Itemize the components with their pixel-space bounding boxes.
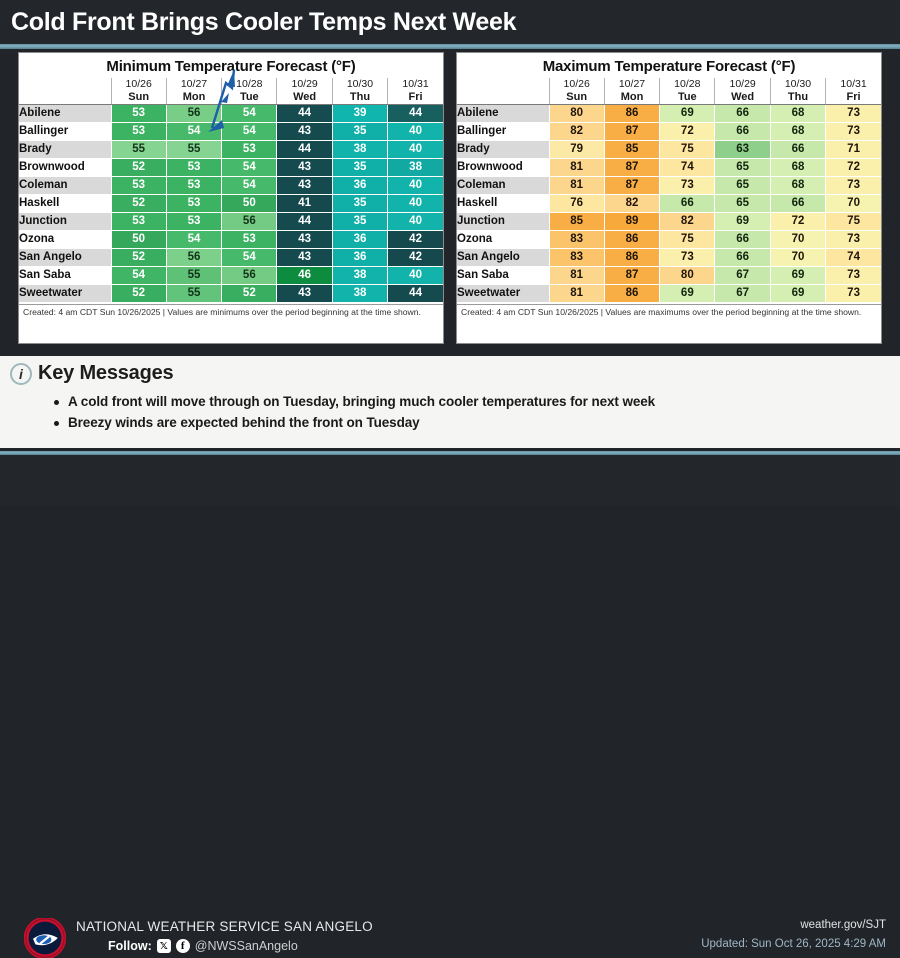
column-header-date: 10/31: [388, 78, 443, 91]
column-header-date: 10/30: [770, 78, 825, 91]
column-header-day: Tue: [660, 91, 715, 105]
nws-logo-icon: [24, 918, 66, 958]
table-row: San Angelo525654433642: [19, 249, 443, 267]
temperature-cell: 73: [826, 105, 881, 123]
temperature-cell: 72: [660, 123, 715, 141]
city-label: Haskell: [457, 195, 549, 213]
temperature-cell: 35: [332, 123, 387, 141]
temperature-cell: 43: [277, 123, 332, 141]
temperature-cell: 73: [660, 249, 715, 267]
city-label: Sweetwater: [19, 285, 111, 303]
column-header-date: 10/29: [715, 78, 770, 91]
temperature-cell: 65: [715, 177, 770, 195]
column-header-day: Fri: [826, 91, 881, 105]
temperature-cell: 87: [604, 267, 659, 285]
temperature-cell: 83: [549, 231, 604, 249]
key-messages-header: i Key Messages: [0, 356, 900, 385]
temperature-cell: 81: [549, 159, 604, 177]
maximum-temperature-panel: Maximum Temperature Forecast (°F) 10/261…: [456, 52, 882, 344]
max-table-head: 10/2610/2710/2810/2910/3010/31SunMonTueW…: [457, 78, 881, 105]
temperature-cell: 40: [388, 177, 443, 195]
temperature-cell: 86: [604, 105, 659, 123]
table-row: San Saba545556463840: [19, 267, 443, 285]
temperature-cell: 87: [604, 159, 659, 177]
follow-label: Follow:: [108, 939, 152, 953]
header-day-row: SunMonTueWedThuFri: [19, 91, 443, 105]
table-row: Junction858982697275: [457, 213, 881, 231]
max-table-body: Abilene808669666873Ballinger828772666873…: [457, 105, 881, 303]
key-messages-list: A cold front will move through on Tuesda…: [0, 391, 900, 433]
table-row: Ozona838675667073: [457, 231, 881, 249]
temperature-cell: 56: [222, 213, 277, 231]
temperature-cell: 46: [277, 267, 332, 285]
footer-organization: NATIONAL WEATHER SERVICE SAN ANGELO: [76, 919, 373, 934]
temperature-cell: 73: [826, 123, 881, 141]
footer-website[interactable]: weather.gov/SJT: [800, 919, 886, 931]
column-header-date: 10/26: [111, 78, 166, 91]
temperature-cell: 54: [222, 123, 277, 141]
temperature-cell: 85: [549, 213, 604, 231]
header-corner-cell-2: [457, 91, 549, 105]
temperature-cell: 87: [604, 177, 659, 195]
temperature-cell: 53: [166, 195, 221, 213]
weather-graphic: Cold Front Brings Cooler Temps Next Week…: [0, 0, 900, 506]
table-row: Brady798575636671: [457, 141, 881, 159]
temperature-cell: 50: [222, 195, 277, 213]
max-table-footnote: Created: 4 am CDT Sun 10/26/2025 | Value…: [457, 304, 881, 317]
city-label: Brady: [457, 141, 549, 159]
temperature-cell: 79: [549, 141, 604, 159]
temperature-cell: 43: [277, 159, 332, 177]
temperature-cell: 42: [388, 231, 443, 249]
temperature-cell: 50: [111, 231, 166, 249]
min-table-head: 10/2610/2710/2810/2910/3010/31SunMonTueW…: [19, 78, 443, 105]
temperature-cell: 73: [826, 177, 881, 195]
temperature-cell: 53: [111, 177, 166, 195]
temperature-cell: 75: [826, 213, 881, 231]
temperature-cell: 75: [660, 231, 715, 249]
temperature-cell: 52: [111, 249, 166, 267]
temperature-cell: 72: [770, 213, 825, 231]
temperature-cell: 80: [549, 105, 604, 123]
temperature-cell: 44: [388, 105, 443, 123]
column-header-day: Thu: [332, 91, 387, 105]
temperature-cell: 40: [388, 195, 443, 213]
temperature-cell: 52: [222, 285, 277, 303]
header-corner-cell-2: [19, 91, 111, 105]
min-table-footnote: Created: 4 am CDT Sun 10/26/2025 | Value…: [19, 304, 443, 317]
temperature-cell: 38: [388, 159, 443, 177]
table-row: Sweetwater525552433844: [19, 285, 443, 303]
header-date-row: 10/2610/2710/2810/2910/3010/31: [457, 78, 881, 91]
column-header-day: Sun: [549, 91, 604, 105]
column-header-day: Fri: [388, 91, 443, 105]
temperature-cell: 82: [660, 213, 715, 231]
temperature-cell: 68: [770, 105, 825, 123]
table-row: Abilene535654443944: [19, 105, 443, 123]
temperature-cell: 53: [111, 123, 166, 141]
table-row: Abilene808669666873: [457, 105, 881, 123]
footer-bar: NATIONAL WEATHER SERVICE SAN ANGELO Foll…: [0, 455, 900, 506]
temperature-cell: 82: [604, 195, 659, 213]
temperature-cell: 65: [715, 195, 770, 213]
temperature-cell: 38: [332, 267, 387, 285]
city-label: Abilene: [457, 105, 549, 123]
temperature-cell: 44: [388, 285, 443, 303]
temperature-cell: 35: [332, 195, 387, 213]
title-bar: Cold Front Brings Cooler Temps Next Week: [0, 0, 900, 44]
temperature-cell: 36: [332, 231, 387, 249]
temperature-cell: 73: [826, 285, 881, 303]
column-header-day: Tue: [222, 91, 277, 105]
temperature-cell: 71: [826, 141, 881, 159]
temperature-cell: 81: [549, 177, 604, 195]
temperature-cell: 40: [388, 213, 443, 231]
temperature-cell: 76: [549, 195, 604, 213]
footer-updated-timestamp: Updated: Sun Oct 26, 2025 4:29 AM: [701, 938, 886, 950]
temperature-cell: 81: [549, 267, 604, 285]
temperature-cell: 74: [660, 159, 715, 177]
table-row: Ballinger828772666873: [457, 123, 881, 141]
column-header-day: Sun: [111, 91, 166, 105]
table-row: Ballinger535454433540: [19, 123, 443, 141]
temperature-cell: 44: [277, 141, 332, 159]
table-row: San Saba818780676973: [457, 267, 881, 285]
temperature-cell: 53: [166, 159, 221, 177]
social-handle[interactable]: @NWSSanAngelo: [195, 939, 298, 953]
column-header-day: Wed: [715, 91, 770, 105]
city-label: Junction: [457, 213, 549, 231]
temperature-cell: 69: [770, 267, 825, 285]
temperature-cell: 54: [166, 123, 221, 141]
temperature-cell: 81: [549, 285, 604, 303]
temperature-cell: 80: [660, 267, 715, 285]
temperature-cell: 68: [770, 159, 825, 177]
city-label: Ballinger: [457, 123, 549, 141]
table-row: Ozona505453433642: [19, 231, 443, 249]
city-label: San Angelo: [457, 249, 549, 267]
temperature-cell: 54: [111, 267, 166, 285]
temperature-cell: 70: [770, 249, 825, 267]
temperature-cell: 66: [660, 195, 715, 213]
temperature-cell: 83: [549, 249, 604, 267]
column-header-day: Thu: [770, 91, 825, 105]
temperature-cell: 52: [111, 285, 166, 303]
facebook-icon[interactable]: f: [176, 939, 190, 953]
table-row: Coleman535354433640: [19, 177, 443, 195]
temperature-cell: 54: [222, 249, 277, 267]
temperature-cell: 53: [222, 231, 277, 249]
info-icon: i: [10, 363, 32, 385]
temperature-cell: 43: [277, 249, 332, 267]
temperature-cell: 70: [826, 195, 881, 213]
min-table-title: Minimum Temperature Forecast (°F): [19, 53, 443, 78]
temperature-cell: 44: [277, 213, 332, 231]
column-header-date: 10/28: [660, 78, 715, 91]
column-header-day: Wed: [277, 91, 332, 105]
forecast-tables: Minimum Temperature Forecast (°F) 10/261…: [0, 52, 900, 348]
temperature-cell: 86: [604, 285, 659, 303]
temperature-cell: 38: [332, 141, 387, 159]
min-table-body: Abilene535654443944Ballinger535454433540…: [19, 105, 443, 303]
temperature-cell: 86: [604, 231, 659, 249]
temperature-cell: 53: [222, 141, 277, 159]
temperature-cell: 73: [826, 231, 881, 249]
max-temperature-table: 10/2610/2710/2810/2910/3010/31SunMonTueW…: [457, 78, 881, 303]
temperature-cell: 68: [770, 123, 825, 141]
temperature-cell: 56: [166, 105, 221, 123]
temperature-cell: 66: [770, 141, 825, 159]
temperature-cell: 54: [166, 231, 221, 249]
header-corner-cell: [457, 78, 549, 91]
temperature-cell: 73: [660, 177, 715, 195]
temperature-cell: 87: [604, 123, 659, 141]
temperature-cell: 39: [332, 105, 387, 123]
temperature-cell: 54: [222, 105, 277, 123]
table-row: Brownwood818774656872: [457, 159, 881, 177]
table-row: Brownwood525354433538: [19, 159, 443, 177]
temperature-cell: 56: [222, 267, 277, 285]
temperature-cell: 82: [549, 123, 604, 141]
temperature-cell: 56: [166, 249, 221, 267]
key-message-item: Breezy winds are expected behind the fro…: [54, 412, 900, 433]
table-row: Haskell768266656670: [457, 195, 881, 213]
temperature-cell: 41: [277, 195, 332, 213]
temperature-cell: 70: [770, 231, 825, 249]
column-header-date: 10/30: [332, 78, 387, 91]
key-messages-title: Key Messages: [38, 362, 173, 385]
table-row: Coleman818773656873: [457, 177, 881, 195]
key-message-item: A cold front will move through on Tuesda…: [54, 391, 900, 412]
temperature-cell: 53: [166, 177, 221, 195]
temperature-cell: 75: [660, 141, 715, 159]
column-header-date: 10/28: [222, 78, 277, 91]
column-header-date: 10/26: [549, 78, 604, 91]
min-temperature-table: 10/2610/2710/2810/2910/3010/31SunMonTueW…: [19, 78, 443, 303]
temperature-cell: 74: [826, 249, 881, 267]
temperature-cell: 42: [388, 249, 443, 267]
temperature-cell: 36: [332, 177, 387, 195]
temperature-cell: 66: [715, 123, 770, 141]
temperature-cell: 53: [111, 213, 166, 231]
city-label: San Saba: [19, 267, 111, 285]
city-label: Junction: [19, 213, 111, 231]
temperature-cell: 66: [770, 195, 825, 213]
city-label: Ozona: [19, 231, 111, 249]
temperature-cell: 69: [660, 285, 715, 303]
table-row: Sweetwater818669676973: [457, 285, 881, 303]
city-label: Haskell: [19, 195, 111, 213]
temperature-cell: 55: [166, 141, 221, 159]
temperature-cell: 66: [715, 231, 770, 249]
temperature-cell: 73: [826, 267, 881, 285]
temperature-cell: 69: [770, 285, 825, 303]
twitter-x-icon[interactable]: 𝕏: [157, 939, 171, 953]
temperature-cell: 43: [277, 177, 332, 195]
column-header-day: Mon: [166, 91, 221, 105]
temperature-cell: 67: [715, 267, 770, 285]
temperature-cell: 35: [332, 159, 387, 177]
city-label: Ozona: [457, 231, 549, 249]
city-label: Coleman: [19, 177, 111, 195]
city-label: Abilene: [19, 105, 111, 123]
header-day-row: SunMonTueWedThuFri: [457, 91, 881, 105]
city-label: Ballinger: [19, 123, 111, 141]
temperature-cell: 35: [332, 213, 387, 231]
column-header-date: 10/27: [604, 78, 659, 91]
city-label: Brownwood: [457, 159, 549, 177]
column-header-date: 10/27: [166, 78, 221, 91]
temperature-cell: 55: [166, 285, 221, 303]
temperature-cell: 63: [715, 141, 770, 159]
temperature-cell: 44: [277, 105, 332, 123]
temperature-cell: 54: [222, 159, 277, 177]
table-row: Brady555553443840: [19, 141, 443, 159]
table-row: San Angelo838673667074: [457, 249, 881, 267]
temperature-cell: 55: [111, 141, 166, 159]
column-header-date: 10/29: [277, 78, 332, 91]
column-header-day: Mon: [604, 91, 659, 105]
footer-follow-group: Follow: 𝕏 f @NWSSanAngelo: [108, 939, 298, 953]
temperature-cell: 36: [332, 249, 387, 267]
page-title: Cold Front Brings Cooler Temps Next Week: [0, 8, 516, 37]
temperature-cell: 40: [388, 267, 443, 285]
temperature-cell: 66: [715, 249, 770, 267]
temperature-cell: 53: [111, 105, 166, 123]
temperature-cell: 52: [111, 195, 166, 213]
temperature-cell: 68: [770, 177, 825, 195]
minimum-temperature-panel: Minimum Temperature Forecast (°F) 10/261…: [18, 52, 444, 344]
temperature-cell: 43: [277, 231, 332, 249]
header-accent-divider: [0, 44, 900, 49]
temperature-cell: 38: [332, 285, 387, 303]
temperature-cell: 40: [388, 123, 443, 141]
temperature-cell: 52: [111, 159, 166, 177]
city-label: Sweetwater: [457, 285, 549, 303]
city-label: Brady: [19, 141, 111, 159]
temperature-cell: 65: [715, 159, 770, 177]
temperature-cell: 69: [715, 213, 770, 231]
temperature-cell: 67: [715, 285, 770, 303]
temperature-cell: 85: [604, 141, 659, 159]
temperature-cell: 53: [166, 213, 221, 231]
temperature-cell: 54: [222, 177, 277, 195]
city-label: Coleman: [457, 177, 549, 195]
table-row: Haskell525350413540: [19, 195, 443, 213]
city-label: San Angelo: [19, 249, 111, 267]
column-header-date: 10/31: [826, 78, 881, 91]
temperature-cell: 72: [826, 159, 881, 177]
header-date-row: 10/2610/2710/2810/2910/3010/31: [19, 78, 443, 91]
temperature-cell: 66: [715, 105, 770, 123]
temperature-cell: 55: [166, 267, 221, 285]
max-table-title: Maximum Temperature Forecast (°F): [457, 53, 881, 78]
temperature-cell: 69: [660, 105, 715, 123]
city-label: San Saba: [457, 267, 549, 285]
temperature-cell: 40: [388, 141, 443, 159]
header-corner-cell: [19, 78, 111, 91]
temperature-cell: 43: [277, 285, 332, 303]
table-row: Junction535356443540: [19, 213, 443, 231]
temperature-cell: 89: [604, 213, 659, 231]
city-label: Brownwood: [19, 159, 111, 177]
temperature-cell: 86: [604, 249, 659, 267]
key-messages-section: i Key Messages A cold front will move th…: [0, 356, 900, 448]
